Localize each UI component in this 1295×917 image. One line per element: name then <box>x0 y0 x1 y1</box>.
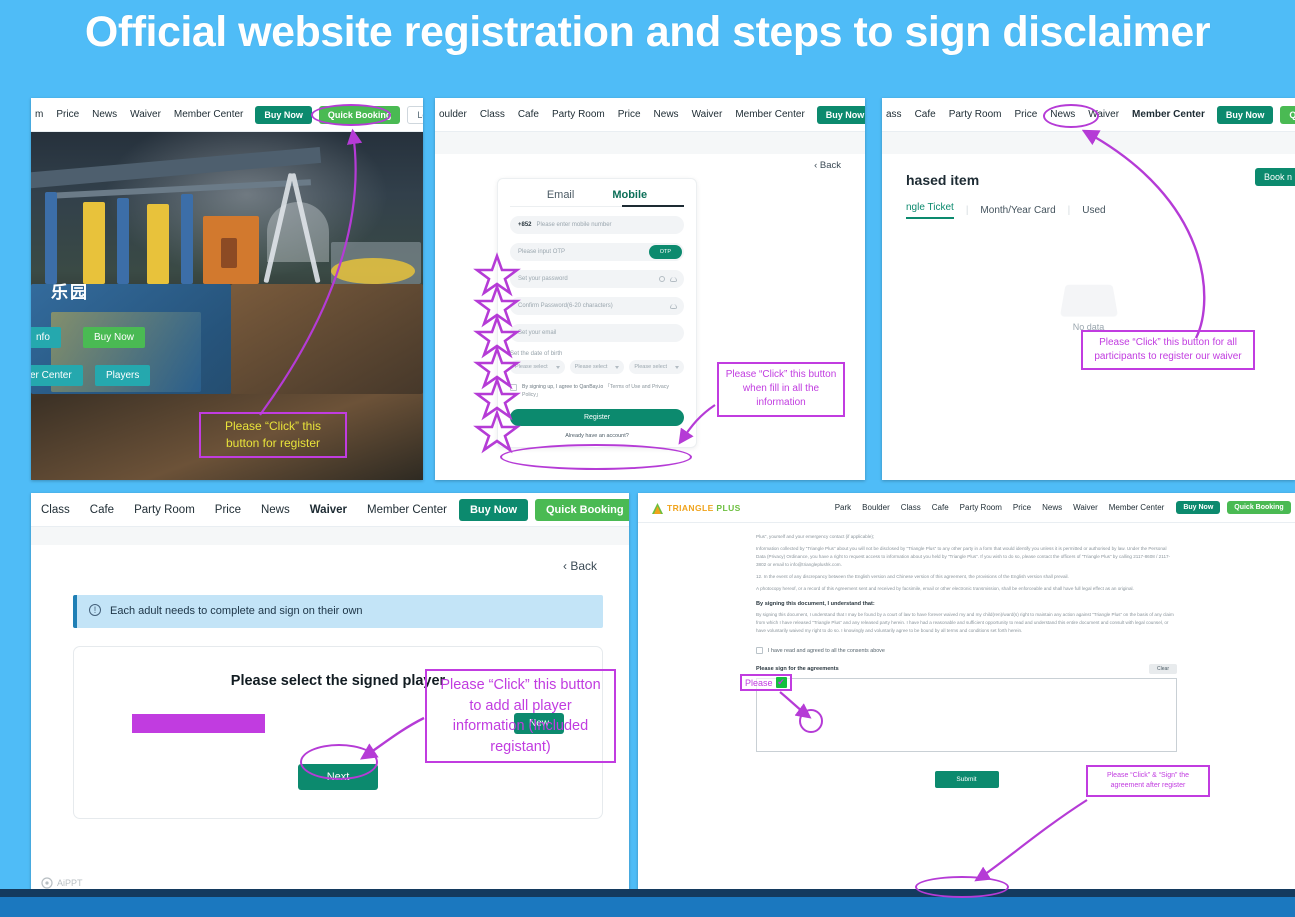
nav-cta-panel5: Buy Now Quick Booking Hi , ENG <box>1176 501 1295 514</box>
nav-cta-panel4: Buy Now Quick Booking Hi , <box>459 499 629 521</box>
doc-paragraph-1: Information collected by “Triangle Plus”… <box>756 545 1177 569</box>
mobile-number-field[interactable]: +852 Please enter mobile number <box>510 216 684 234</box>
chevron-down-icon <box>675 366 679 369</box>
password-field-icons <box>659 276 677 282</box>
consent-text: I have read and agreed to all the consen… <box>768 648 885 654</box>
nav-item-class[interactable]: Class <box>41 504 70 516</box>
annotation-panel3: Please “Click” this button for all parti… <box>1081 330 1255 370</box>
page-title: Official website registration and steps … <box>0 8 1295 57</box>
highlight-consent-checkbox <box>799 709 823 733</box>
nav-item-price[interactable]: Price <box>1014 109 1037 120</box>
watermark-icon <box>41 877 53 889</box>
annotation-panel2: Please “Click” this button when fill in … <box>717 362 845 417</box>
nav-item-park[interactable]: Park <box>835 503 851 512</box>
column <box>117 198 129 284</box>
nav-item-waiver[interactable]: Waiver <box>692 109 723 120</box>
eye-icon[interactable] <box>670 304 677 309</box>
nav-links-panel2: oulder Class Cafe Party Room Price News … <box>439 109 805 120</box>
register-card: Email Mobile +852 Please enter mobile nu… <box>497 178 697 448</box>
nav-item-waiver[interactable]: Waiver <box>130 109 161 120</box>
register-button[interactable]: Register <box>510 409 684 426</box>
dob-day-value: Please select <box>634 364 667 370</box>
nav-cta-panel2: Buy Now Quick Booking Login/Register <box>817 106 865 124</box>
terms-text: By signing up, I agree to QanBay.io 「Ter… <box>522 383 684 399</box>
page-body-panel2: ‹ Back Email Mobile +852 Please enter mo… <box>435 132 865 480</box>
tab-active-underline <box>622 205 684 207</box>
signature-header-row: Please sign for the agreements Clear <box>756 664 1177 674</box>
column <box>45 192 57 284</box>
nav-item-news[interactable]: News <box>654 109 679 120</box>
triangle-logo-icon <box>652 502 663 514</box>
net <box>267 202 329 262</box>
tab-single-ticket[interactable]: ngle Ticket <box>906 202 954 219</box>
confirm-password-placeholder: Confirm Password(6-20 characters) <box>518 303 613 309</box>
nav-item-member-center[interactable]: Member Center <box>1132 109 1205 120</box>
email-placeholder: Set your email <box>518 330 556 336</box>
nav-item-cafe[interactable]: Cafe <box>518 109 539 120</box>
nav-item-cafe[interactable]: Cafe <box>915 109 936 120</box>
panel-5-waiver-document: TRIANGLE PLUS Park Boulder Class Cafe Pa… <box>638 493 1295 893</box>
nav-item-waiver[interactable]: Waiver <box>1073 503 1098 512</box>
watermark-label: AiPPT <box>57 878 83 888</box>
dob-year-value: Please select <box>515 364 548 370</box>
doc-signing-body: By signing this document, I understand t… <box>756 611 1177 635</box>
mobile-placeholder: Please enter mobile number <box>537 222 612 228</box>
country-code-label: +852 <box>518 222 532 228</box>
otp-field[interactable]: Please input OTP OTP <box>510 243 684 261</box>
hero-top-playground <box>31 132 423 284</box>
terms-agreement-row[interactable]: By signing up, I agree to QanBay.io 「Ter… <box>510 383 684 399</box>
tab-month-year-card[interactable]: Month/Year Card <box>980 205 1055 216</box>
terms-text-main: By signing up, I agree to QanBay.io <box>522 384 603 390</box>
slide-root: Official website registration and steps … <box>0 0 1295 917</box>
info-banner-text: Each adult needs to complete and sign on… <box>110 604 363 619</box>
nav-item-news[interactable]: News <box>92 109 117 120</box>
nav-item-party-room[interactable]: Party Room <box>949 109 1002 120</box>
highlight-register-button <box>500 444 692 470</box>
date-of-birth-label: Set the date of birth <box>510 351 684 357</box>
password-field[interactable]: Set your password <box>510 270 684 288</box>
info-icon: ! <box>89 604 101 616</box>
already-have-account-link[interactable]: Already have an account? <box>510 433 684 439</box>
submit-button[interactable]: Submit <box>935 771 999 788</box>
player-name-redacted <box>132 714 265 733</box>
consent-checkbox[interactable] <box>756 647 763 654</box>
waiver-document-scroll[interactable]: Plus”, yourself and your emergency conta… <box>638 527 1295 893</box>
park-name-label: 乐园 <box>51 278 89 303</box>
dob-month-value: Please select <box>575 364 608 370</box>
nav-item-news[interactable]: News <box>261 504 290 516</box>
nav-item-class[interactable]: ass <box>886 109 902 120</box>
nav-item-waiver[interactable]: Waiver <box>310 504 347 516</box>
otp-placeholder: Please input OTP <box>518 249 565 255</box>
chip-member-center[interactable]: er Center <box>31 365 83 386</box>
nav-links-panel1: m Price News Waiver Member Center <box>35 109 243 120</box>
nav-item-cafe[interactable]: Cafe <box>932 503 949 512</box>
nav-item-price[interactable]: Price <box>618 109 641 120</box>
nav-item-boulder[interactable]: Boulder <box>862 503 890 512</box>
nav-item-member-center[interactable]: Member Center <box>1109 503 1165 512</box>
buy-now-button[interactable]: Buy Now <box>459 499 528 521</box>
column <box>181 194 193 284</box>
bottom-band <box>0 889 1295 917</box>
purchased-item-title: hased item <box>906 154 1271 188</box>
nav-item-member-center[interactable]: Member Center <box>735 109 804 120</box>
nav-links-panel5: Park Boulder Class Cafe Party Room Price… <box>835 503 1165 512</box>
dob-year-select[interactable]: Please select <box>510 360 565 374</box>
navbar-panel5: TRIANGLE PLUS Park Boulder Class Cafe Pa… <box>638 493 1295 523</box>
nav-links-panel4: Class Cafe Party Room Price News Waiver … <box>41 504 447 516</box>
nav-item-party-room[interactable]: Party Room <box>552 109 605 120</box>
tab-separator: | <box>1068 205 1071 216</box>
buy-now-button[interactable]: Buy Now <box>255 106 312 124</box>
tab-used[interactable]: Used <box>1082 205 1105 216</box>
annotation-check-label: Please <box>745 678 773 688</box>
buy-now-button[interactable]: Buy Now <box>817 106 865 124</box>
tab-mobile[interactable]: Mobile <box>612 189 647 201</box>
dob-month-select[interactable]: Please select <box>570 360 625 374</box>
login-register-button[interactable]: Login/Register <box>407 106 423 124</box>
back-row: ‹ Back <box>31 545 629 573</box>
brand-logo[interactable]: TRIANGLE PLUS <box>642 502 749 514</box>
password-placeholder: Set your password <box>518 276 568 282</box>
nav-item-price[interactable]: Price <box>56 109 79 120</box>
chip-players[interactable]: Players <box>95 365 150 386</box>
nav-item-news[interactable]: News <box>1042 503 1062 512</box>
panel-3-purchased-items: ass Cafe Party Room Price News Waiver Me… <box>882 98 1295 480</box>
door <box>221 238 237 268</box>
cave-right <box>231 284 423 394</box>
highlight-submit-button <box>915 876 1009 898</box>
nav-item-member-center[interactable]: Member Center <box>174 109 243 120</box>
signature-heading: Please sign for the agreements <box>756 666 839 672</box>
back-link[interactable]: ‹ Back <box>814 160 841 171</box>
back-row: ‹ Back <box>435 154 865 171</box>
nav-item-class[interactable]: Class <box>901 503 921 512</box>
nav-item-party-room[interactable]: Party Room <box>134 504 195 516</box>
brand-logo-text: TRIANGLE PLUS <box>667 503 741 513</box>
annotation-panel5: Please “Click” & “Sign” the agreement af… <box>1086 765 1210 797</box>
ticket-tabs: ngle Ticket | Month/Year Card | Used <box>906 202 1271 219</box>
nav-item-member-center[interactable]: Member Center <box>367 504 447 516</box>
book-now-button[interactable]: Book n <box>1255 168 1295 186</box>
annotation-panel4: Please “Click” this button to add all pl… <box>425 669 616 763</box>
highlight-waiver-nav <box>1043 104 1099 128</box>
quick-booking-button[interactable]: Quick Booking <box>1280 106 1295 124</box>
logo-text-part2: PLUS <box>716 503 740 513</box>
nav-item-cafe[interactable]: Cafe <box>90 504 114 516</box>
clear-signature-button[interactable]: Clear <box>1149 664 1177 674</box>
logo-text-part1: TRIANGLE <box>667 503 714 513</box>
nav-item-party-room[interactable]: Party Room <box>960 503 1002 512</box>
doc-paragraph-3: A photocopy hereof, or a record of this … <box>756 585 1177 593</box>
buy-now-button[interactable]: Buy Now <box>1176 501 1220 514</box>
nav-item-0[interactable]: m <box>35 109 43 120</box>
nav-item-class[interactable]: Class <box>480 109 505 120</box>
help-icon[interactable] <box>659 276 665 282</box>
column <box>147 204 169 284</box>
annotation-panel5-check: Please ✔ <box>740 674 792 691</box>
buy-now-button[interactable]: Buy Now <box>1217 106 1274 124</box>
nav-cta-panel3: Buy Now Quick Booking <box>1217 106 1295 124</box>
chevron-down-icon <box>615 366 619 369</box>
panel-2-register-form: oulder Class Cafe Party Room Price News … <box>435 98 865 480</box>
column <box>83 202 105 284</box>
platform <box>331 258 415 284</box>
auth-tabs: Email Mobile <box>510 189 684 207</box>
nav-item-boulder[interactable]: oulder <box>439 109 467 120</box>
eye-icon[interactable] <box>670 277 677 282</box>
doc-signing-heading: By signing this document, I understand t… <box>756 601 1177 607</box>
annotation-panel1: Please “Click” this button for register <box>199 412 347 458</box>
highlight-login-register <box>311 104 391 126</box>
quick-booking-button[interactable]: Quick Booking <box>535 499 629 521</box>
date-of-birth-selects: Please select Please select Please selec… <box>510 360 684 374</box>
gray-strip <box>435 132 865 154</box>
dob-day-select[interactable]: Please select <box>629 360 684 374</box>
tab-email[interactable]: Email <box>547 189 575 201</box>
quick-booking-button[interactable]: Quick Booking <box>1227 501 1290 514</box>
confirm-password-icons <box>670 304 677 309</box>
chevron-down-icon <box>556 366 560 369</box>
chip-buy-now[interactable]: Buy Now <box>83 327 145 348</box>
send-otp-button[interactable]: OTP <box>649 245 682 259</box>
nav-item-price[interactable]: Price <box>215 504 241 516</box>
terms-checkbox[interactable] <box>510 384 517 391</box>
gray-strip <box>31 527 629 545</box>
back-link[interactable]: ‹ Back <box>563 559 597 573</box>
check-mark-icon: ✔ <box>776 677 787 688</box>
gray-strip <box>882 132 1295 154</box>
email-field[interactable]: Set your email <box>510 324 684 342</box>
empty-state: No data <box>882 282 1295 332</box>
chip-info[interactable]: nfo <box>31 327 61 348</box>
consent-row[interactable]: I have read and agreed to all the consen… <box>756 647 1177 654</box>
empty-box-icon <box>1059 285 1117 317</box>
highlight-new-button <box>300 744 378 780</box>
doc-paragraph-2: 12. In the event of any discrepancy betw… <box>756 573 1177 581</box>
info-banner: ! Each adult needs to complete and sign … <box>73 595 603 628</box>
doc-paragraph-0: Plus”, yourself and your emergency conta… <box>756 533 1177 541</box>
nav-item-price[interactable]: Price <box>1013 503 1031 512</box>
watermark: AiPPT <box>41 877 83 889</box>
confirm-password-field[interactable]: Confirm Password(6-20 characters) <box>510 297 684 315</box>
navbar-panel4: Class Cafe Party Room Price News Waiver … <box>31 493 629 527</box>
page-body-panel3: hased item Book n ngle Ticket | Month/Ye… <box>882 132 1295 480</box>
tab-separator: | <box>966 205 969 216</box>
navbar-panel2: oulder Class Cafe Party Room Price News … <box>435 98 865 132</box>
